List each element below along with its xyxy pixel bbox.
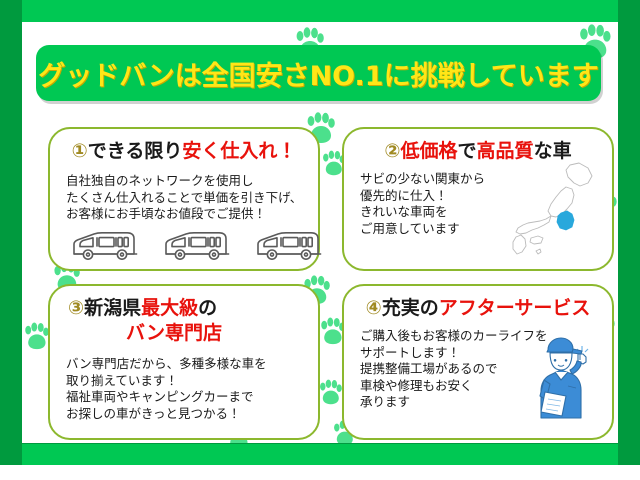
kanto-region-highlight xyxy=(557,211,574,230)
feature-panel-2: ②低価格で高品質な車 サビの少ない関東から 優先的に仕入！ きれいな車両を ご用… xyxy=(342,127,614,271)
panel-4-number: ④ xyxy=(366,297,382,319)
panel-2-number: ② xyxy=(384,140,400,162)
promo-poster: グッドバンは全国安さNO.1に挑戦しています ①できる限り安く仕入れ！ 自社独自… xyxy=(0,0,640,480)
poster-canvas: グッドバンは全国安さNO.1に挑戦しています ①できる限り安く仕入れ！ 自社独自… xyxy=(22,22,618,443)
panel-1-body-line-1: 自社独自のネットワークを使用し xyxy=(66,173,302,190)
panel-4-body-line-3: 提携整備工場があるので xyxy=(360,361,548,378)
panel-3-heading-part-2: 最大級 xyxy=(141,297,198,319)
feature-panel-1: ①できる限り安く仕入れ！ 自社独自のネットワークを使用し たくさん仕入れることで… xyxy=(48,127,320,271)
van-icon xyxy=(162,229,232,263)
panel-2-body-line-4: ご用意しています xyxy=(360,221,485,238)
van-icon xyxy=(254,229,324,263)
panel-3-body-line-4: お探しの車がきっと見つかる！ xyxy=(66,406,267,423)
panel-1-body: 自社独自のネットワークを使用し たくさん仕入れることで単価を引き下げ、 お客様に… xyxy=(66,173,302,223)
panel-1-number: ① xyxy=(72,140,88,162)
japan-map-icon xyxy=(504,159,608,263)
panel-3-body-line-1: バン専門店だから、多種多様な車を xyxy=(66,356,267,373)
panel-4-heading: ④充実のアフターサービス xyxy=(344,296,612,320)
panel-4-heading-part-1: 充実の xyxy=(382,297,439,319)
panel-4-body-line-1: ご購入後もお客様のカーライフを xyxy=(360,328,548,345)
panel-2-heading-part-1: 低価格 xyxy=(401,140,458,162)
feature-panel-3: ③新潟県最大級の バン専門店 バン専門店だから、多種多様な車を 取り揃えています… xyxy=(48,284,320,440)
paw-print-icon xyxy=(318,379,342,407)
panel-4-body-line-5: 承ります xyxy=(360,394,548,411)
panel-1-heading: ①できる限り安く仕入れ！ xyxy=(50,139,318,163)
feature-panel-4: ④充実のアフターサービス ご購入後もお客様のカーライフを サポートします！ 提携… xyxy=(342,284,614,440)
panel-2-heading-part-2: で xyxy=(458,140,477,162)
headline-text: グッドバンは全国安さNO.1に挑戦しています xyxy=(38,54,599,93)
panel-2-body: サビの少ない関東から 優先的に仕入！ きれいな車両を ご用意しています xyxy=(360,171,485,237)
panel-3-body-line-3: 福祉車両やキャンピングカーまで xyxy=(66,389,267,406)
panel-3-body-line-2: 取り揃えています！ xyxy=(66,373,267,390)
panel-1-heading-part-2: 安く仕入れ！ xyxy=(182,140,296,162)
panel-3-body: バン専門店だから、多種多様な車を 取り揃えています！ 福祉車両やキャンピングカー… xyxy=(66,356,267,422)
panel-4-body-line-4: 車検や修理もお安く xyxy=(360,378,548,395)
panel-3-heading: ③新潟県最大級の バン専門店 xyxy=(50,296,318,346)
panel-1-heading-part-1: できる限り xyxy=(88,140,183,162)
panel-3-heading-part-1: 新潟県 xyxy=(84,297,141,319)
panel-4-body: ご購入後もお客様のカーライフを サポートします！ 提携整備工場があるので 車検や… xyxy=(360,328,548,411)
headline-banner: グッドバンは全国安さNO.1に挑戦しています xyxy=(36,45,601,101)
paw-print-icon xyxy=(23,322,49,352)
frame-bottom-bar xyxy=(0,443,640,465)
frame-right-bar xyxy=(618,0,640,465)
mechanic-illustration-icon xyxy=(528,334,602,426)
panel-3-heading-line-2: バン専門店 xyxy=(68,321,318,346)
van-icon xyxy=(70,229,140,263)
panel-1-body-line-3: お客様にお手頃なお値段でご提供！ xyxy=(66,206,302,223)
frame-top-bar xyxy=(0,0,640,22)
panel-2-body-line-2: 優先的に仕入！ xyxy=(360,188,485,205)
panel-2-body-line-3: きれいな車両を xyxy=(360,204,485,221)
panel-4-heading-part-2: アフターサービス xyxy=(439,297,591,319)
frame-left-bar xyxy=(0,0,22,465)
panel-1-body-line-2: たくさん仕入れることで単価を引き下げ、 xyxy=(66,190,302,207)
panel-3-heading-part-3: の xyxy=(198,297,217,319)
van-icon-group xyxy=(70,229,324,263)
panel-3-number: ③ xyxy=(68,297,84,319)
panel-2-body-line-1: サビの少ない関東から xyxy=(360,171,485,188)
panel-4-body-line-2: サポートします！ xyxy=(360,345,548,362)
